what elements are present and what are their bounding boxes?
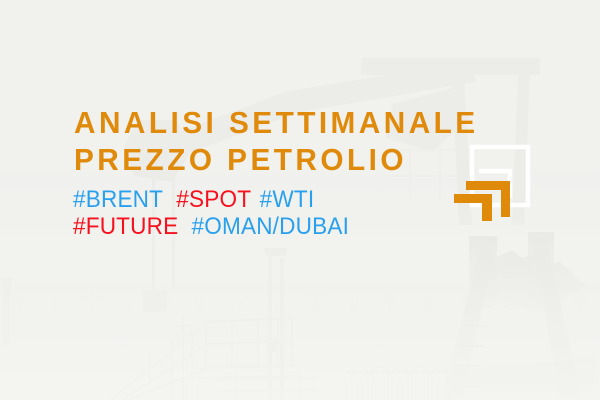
hashtag-brent[interactable]: #BRENT bbox=[73, 186, 163, 213]
hashtag-future[interactable]: #FUTURE bbox=[73, 213, 178, 240]
hashtag-line-1: #BRENT#SPOT#WTI bbox=[73, 186, 349, 213]
hashtag-line-2: #FUTURE#OMAN/DUBAI bbox=[73, 213, 349, 240]
title-line-2: PREZZO PETROLIO bbox=[74, 141, 479, 178]
title-line-1: ANALISI SETTIMANALE bbox=[74, 104, 479, 141]
hashtag-wti[interactable]: #WTI bbox=[260, 186, 315, 213]
hashtag-oman-dubai[interactable]: #OMAN/DUBAI bbox=[192, 213, 350, 240]
page-title: ANALISI SETTIMANALE PREZZO PETROLIO bbox=[74, 104, 495, 178]
hashtag-group: #BRENT#SPOT#WTI #FUTURE#OMAN/DUBAI bbox=[73, 186, 367, 240]
banner-image: ANALISI SETTIMANALE PREZZO PETROLIO #BRE… bbox=[0, 0, 600, 400]
corner-arrow-logo-icon bbox=[452, 143, 536, 221]
hashtag-spot[interactable]: #SPOT bbox=[176, 186, 251, 213]
